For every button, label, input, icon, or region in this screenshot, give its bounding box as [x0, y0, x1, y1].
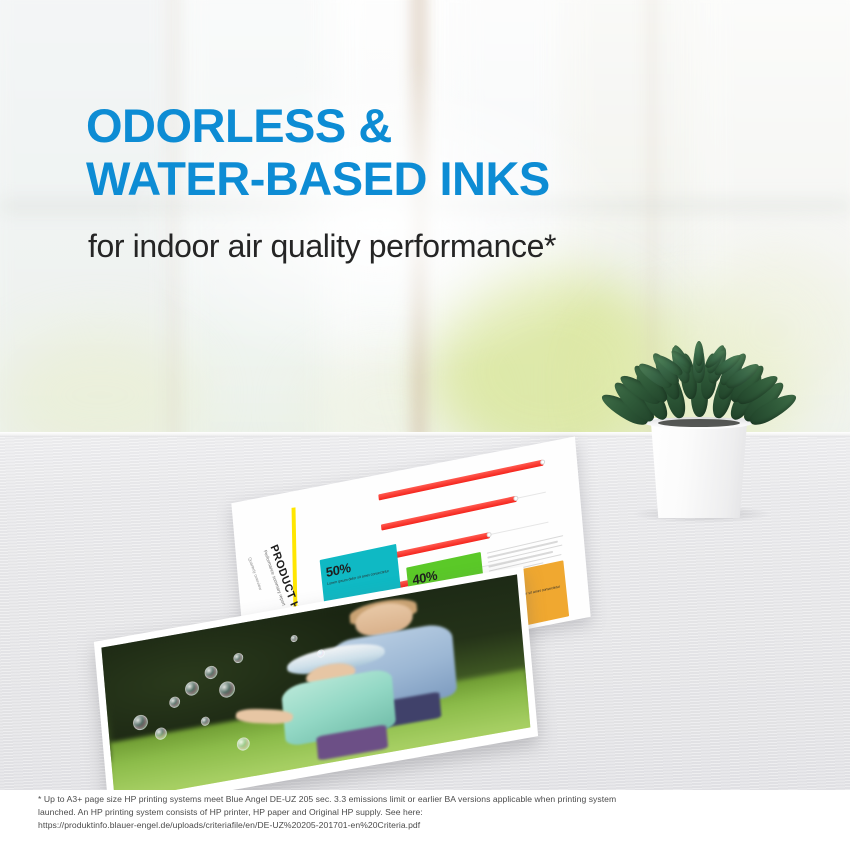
- legal-footnote: * Up to A3+ page size HP printing system…: [38, 793, 828, 832]
- pot-soil: [658, 419, 740, 427]
- bar-end-marker: [540, 459, 545, 465]
- footnote-line-1: * Up to A3+ page size HP printing system…: [38, 793, 828, 806]
- headline-line-1: ODORLESS &: [86, 99, 392, 152]
- headline-line-2: WATER-BASED INKS: [86, 153, 550, 206]
- bar-end-marker: [513, 495, 518, 501]
- page-subheadline: for indoor air quality performance*: [88, 228, 556, 265]
- page-headline: ODORLESS & WATER-BASED INKS: [86, 100, 550, 205]
- document-subtitle-secondary: Quarterly overview: [247, 556, 263, 590]
- plant-pot: [644, 418, 754, 518]
- footnote-line-2: launched. An HP printing system consists…: [38, 806, 828, 819]
- child-younger: [271, 636, 405, 765]
- potted-plant: [612, 305, 792, 530]
- bar-chart-bar: [381, 496, 517, 531]
- footnote-url[interactable]: https://produktinfo.blauer-engel.de/uplo…: [38, 819, 828, 832]
- marketing-banner: PRODUCT HIGHLIGHTS Performance summary r…: [0, 0, 850, 850]
- bar-end-marker: [486, 532, 491, 538]
